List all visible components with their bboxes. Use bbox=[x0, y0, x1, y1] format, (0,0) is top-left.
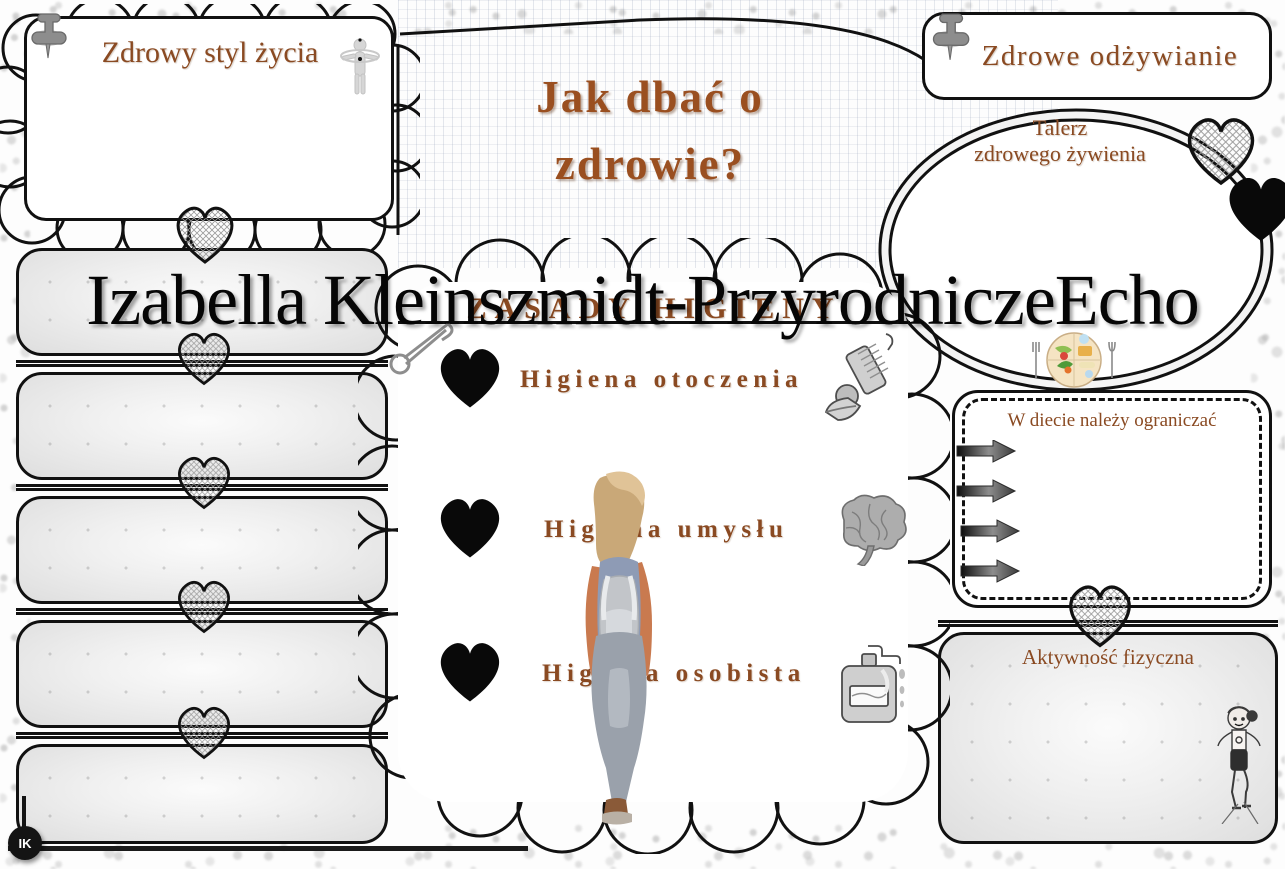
heart-checkered-icon bbox=[172, 700, 236, 762]
right-oval-text: Talerz zdrowego żywienia bbox=[930, 115, 1190, 167]
center-row-1-label: Higiena otoczenia bbox=[520, 366, 803, 394]
right-oval-line1: Talerz bbox=[930, 115, 1190, 141]
right-oval-line2: zdrowego żywienia bbox=[930, 141, 1190, 167]
heart-black-icon bbox=[1220, 168, 1285, 246]
walking-girl-with-backpack-photo bbox=[548, 470, 688, 838]
brain-icon bbox=[830, 494, 908, 566]
heart-checkered-icon bbox=[172, 450, 236, 512]
arrow-icon bbox=[957, 440, 1015, 462]
heart-black-icon bbox=[432, 490, 508, 562]
person-hoop-icon bbox=[336, 36, 384, 98]
heart-checkered-icon bbox=[172, 574, 236, 636]
vacuum-cleaner-icon bbox=[822, 330, 904, 426]
top-right-label: Zdrowe odżywianie bbox=[960, 40, 1260, 73]
heart-black-icon bbox=[432, 634, 508, 706]
center-heading: ZASADY HIGIENY bbox=[398, 292, 910, 326]
heart-black-icon bbox=[432, 340, 508, 412]
page-title-line1: Jak dbać o bbox=[430, 64, 870, 131]
badge-bar bbox=[8, 846, 528, 851]
arrow-icon bbox=[961, 520, 1019, 542]
soap-dispenser-icon bbox=[834, 640, 912, 732]
page-title: Jak dbać o zdrowie? bbox=[430, 64, 870, 197]
ik-badge: IK bbox=[8, 826, 42, 860]
heart-checkered-icon bbox=[1062, 578, 1138, 650]
arrow-icon bbox=[961, 560, 1019, 582]
top-left-label: Zdrowy styl życia bbox=[60, 36, 360, 70]
poster-canvas: Zdrowy styl życia bbox=[0, 0, 1285, 869]
heart-checkered-icon bbox=[172, 326, 236, 388]
arrow-list-icons bbox=[955, 440, 1027, 598]
heart-checkered-icon bbox=[170, 200, 240, 266]
page-title-line2: zdrowie? bbox=[430, 131, 870, 198]
healthy-plate-icon bbox=[1022, 330, 1126, 390]
arrow-icon bbox=[957, 480, 1015, 502]
exercising-girl-icon bbox=[1208, 702, 1270, 824]
right-dashed-label: W diecie należy ograniczać bbox=[962, 410, 1262, 432]
